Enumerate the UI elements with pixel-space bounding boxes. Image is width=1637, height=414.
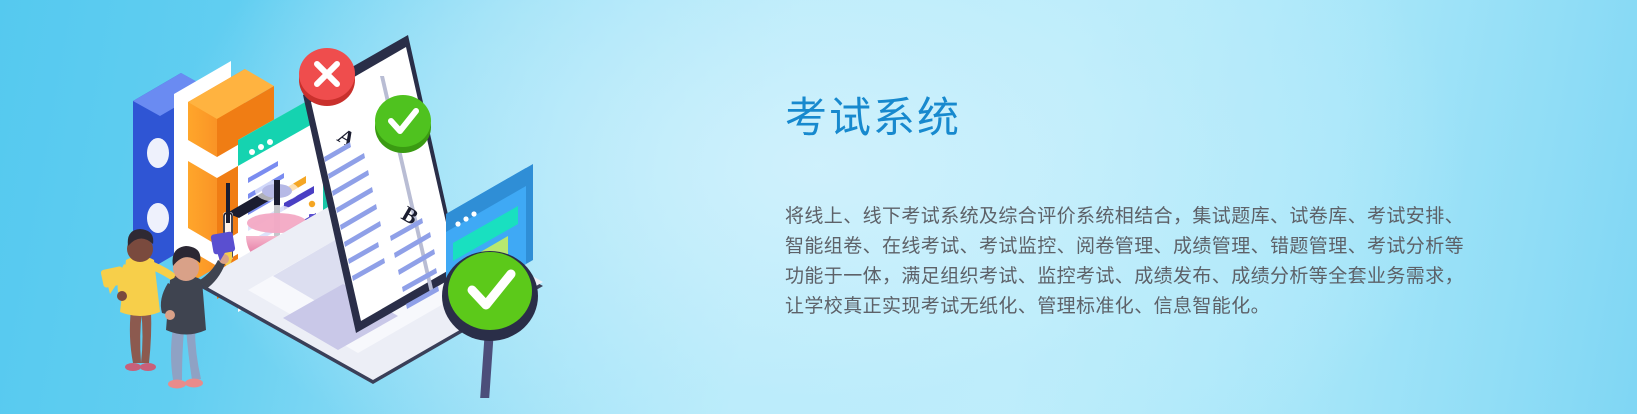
description-line-2: 智能组卷、在线考试、考试监控、阅卷管理、成绩管理、错题管理、考试分析等 [785, 232, 1485, 262]
banner-copy: 考试系统 将线上、线下考试系统及综合评价系统相结合，集试题库、试卷库、考试安排、… [785, 90, 1485, 322]
exam-system-banner: A B [0, 0, 1637, 414]
badge-wrong [299, 48, 355, 106]
banner-description: 将线上、线下考试系统及综合评价系统相结合，集试题库、试卷库、考试安排、 智能组卷… [785, 202, 1485, 322]
page-title: 考试系统 [785, 90, 1485, 146]
magnifier-check [442, 251, 538, 398]
description-line-1: 将线上、线下考试系统及综合评价系统相结合，集试题库、试卷库、考试安排、 [785, 202, 1485, 232]
description-line-4: 让学校真正实现考试无纸化、管理标准化、信息智能化。 [785, 292, 1485, 322]
online-exam-isometric-illustration: A B [78, 28, 618, 398]
description-line-3: 功能于一体，满足组织考试、监控考试、成绩发布、成绩分析等全套业务需求， [785, 262, 1485, 292]
badge-correct [375, 95, 431, 153]
